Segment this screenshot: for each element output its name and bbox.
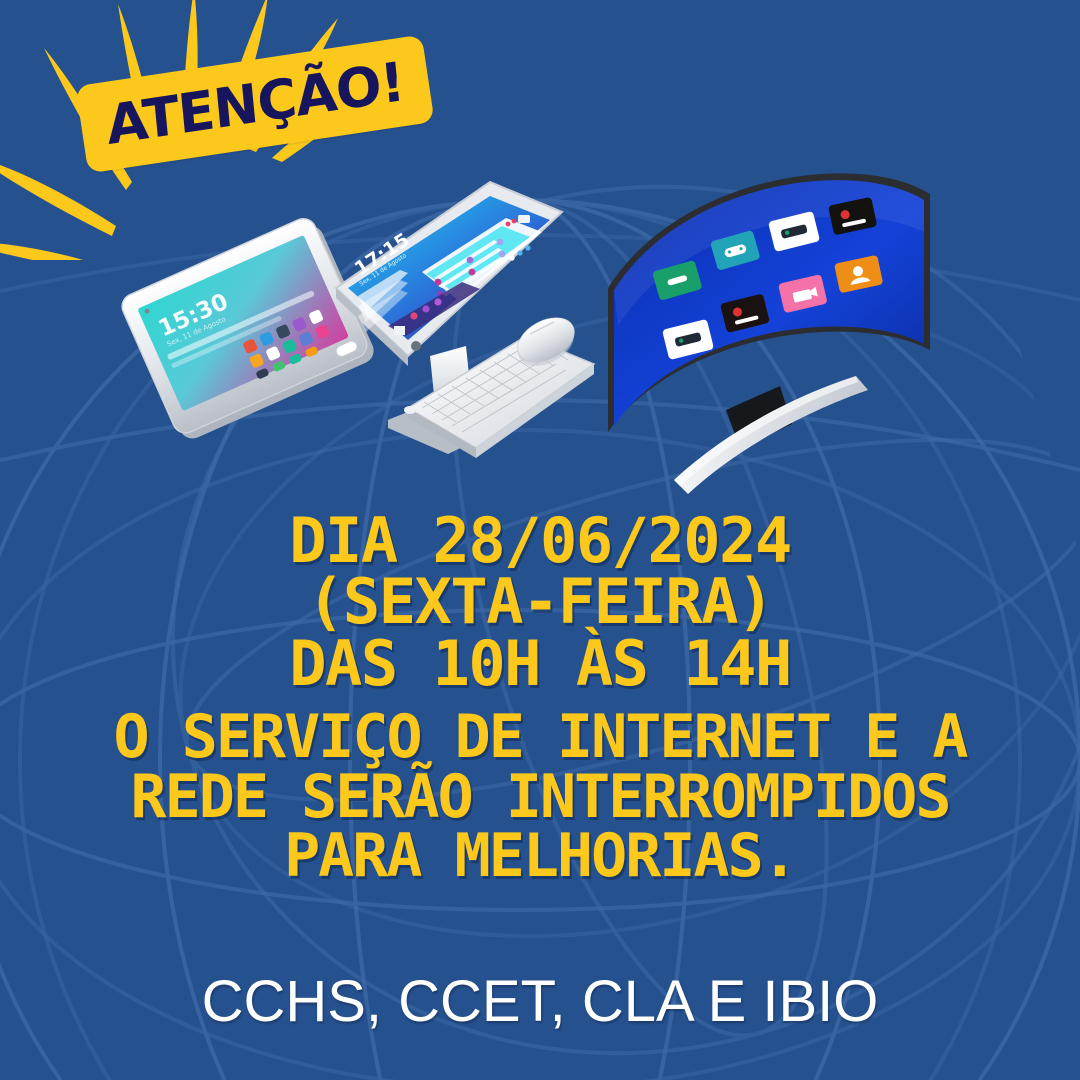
tv-tile-row-1 <box>652 197 877 301</box>
attention-banner-group: ATENÇÃO! <box>0 0 520 260</box>
affected-units-subtitle: CCHS, CCET, CLA E IBIO <box>0 968 1080 1035</box>
headline-line-weekday: (SEXTA-FEIRA) <box>0 571 1080 632</box>
headline-line-body-1: O SERVIÇO DE INTERNET E A <box>0 708 1080 767</box>
curved-smart-tv <box>608 173 930 494</box>
poster-canvas: 15:30 Sex, 11 de Agosto <box>0 0 1080 1080</box>
wireless-keyboard <box>404 336 594 458</box>
headline-line-hours: DAS 10H ÀS 14H <box>0 633 1080 694</box>
headline-block: DIA 28/06/2024 (SEXTA-FEIRA) DAS 10H ÀS … <box>0 510 1080 886</box>
tv-tile-row-2 <box>662 255 883 360</box>
headline-line-date: DIA 28/06/2024 <box>0 510 1080 571</box>
wireless-mouse <box>511 309 582 375</box>
headline-line-body-2: REDE SERÃO INTERROMPIDOS <box>0 768 1080 827</box>
headline-line-body-3: PARA MELHORIAS. <box>0 827 1080 886</box>
svg-text:Sex, 11 de Agosto: Sex, 11 de Agosto <box>166 315 227 348</box>
svg-text:15:30: 15:30 <box>155 289 232 343</box>
